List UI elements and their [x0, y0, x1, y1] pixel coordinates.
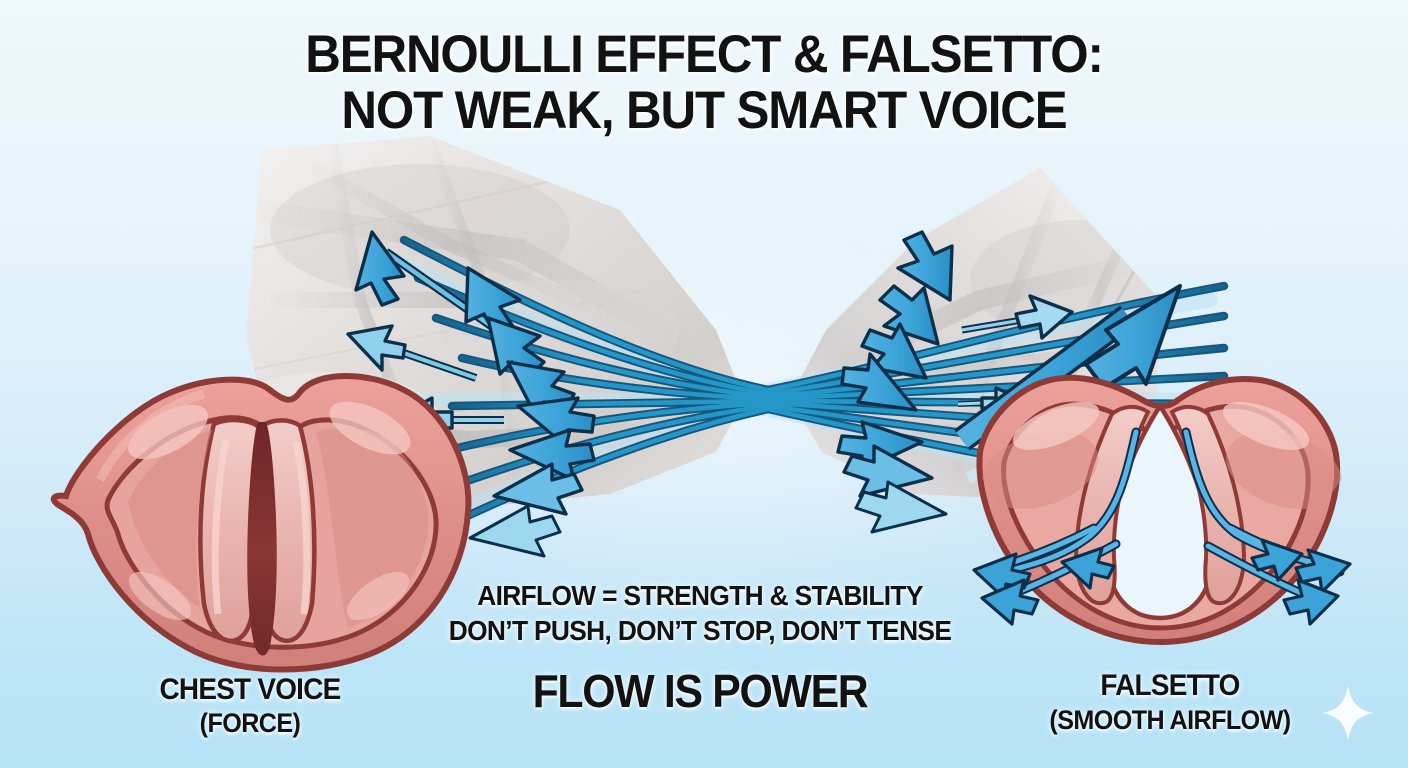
infographic-canvas: BERNOULLI EFFECT & FALSETTO: NOT WEAK, B… [0, 0, 1408, 768]
label-chest-voice-qualifier: (FORCE) [55, 707, 446, 739]
tagline-line-2: DON’T PUSH, DON’T STOP, DON’T TENSE [352, 613, 1048, 648]
title-line-1: BERNOULLI EFFECT & FALSETTO: [49, 27, 1358, 83]
title-line-2: NOT WEAK, BUT SMART VOICE [49, 83, 1358, 139]
label-chest-voice-name: CHEST VOICE [55, 672, 446, 707]
tagline: AIRFLOW = STRENGTH & STABILITY DON’T PUS… [330, 578, 1070, 648]
tagline-line-1: AIRFLOW = STRENGTH & STABILITY [352, 578, 1048, 613]
label-chest-voice: CHEST VOICE (FORCE) [40, 672, 460, 739]
label-falsetto-name: FALSETTO [975, 668, 1366, 704]
page-title: BERNOULLI EFFECT & FALSETTO: NOT WEAK, B… [0, 27, 1408, 139]
label-falsetto: FALSETTO (SMOOTH AIRFLOW) [960, 668, 1380, 737]
label-falsetto-qualifier: (SMOOTH AIRFLOW) [975, 704, 1366, 737]
